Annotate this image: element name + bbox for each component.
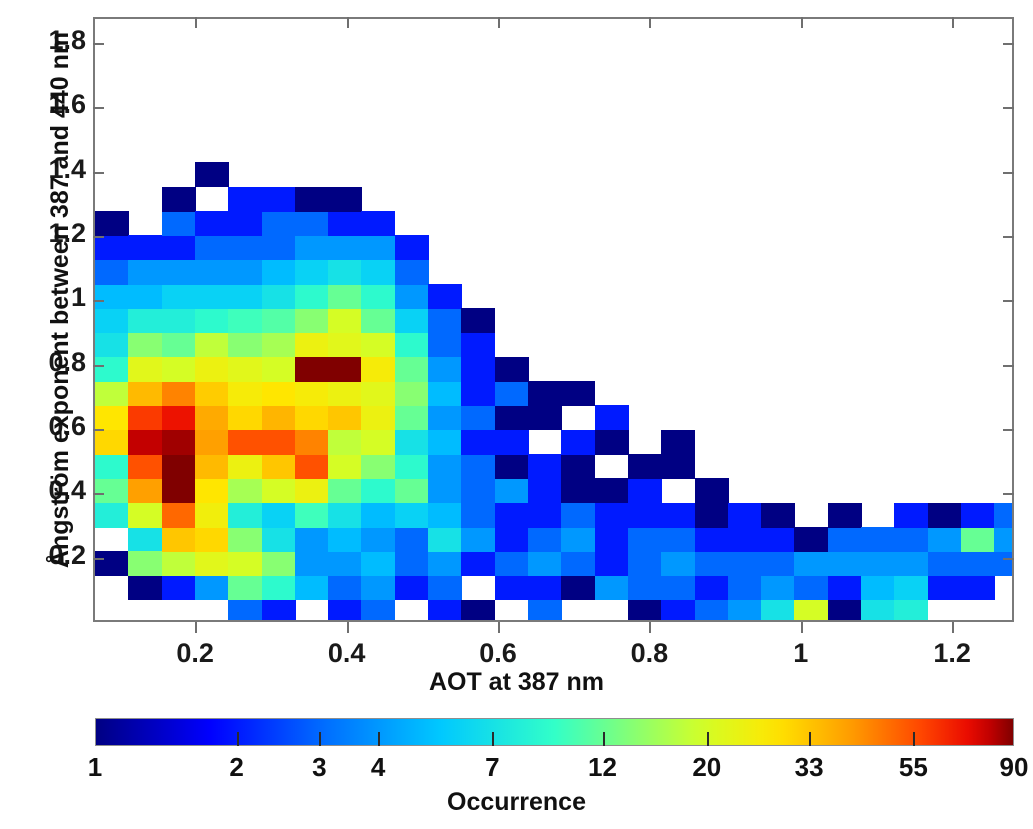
heatmap-cell	[328, 405, 362, 430]
colorbar-tick-label: 55	[868, 752, 958, 783]
heatmap-cell	[428, 357, 462, 382]
heatmap-cell	[861, 527, 895, 552]
heatmap-cell	[461, 503, 495, 528]
heatmap-cell	[228, 575, 262, 600]
heatmap-cell	[595, 430, 629, 455]
heatmap-cell	[95, 211, 129, 236]
heatmap-cell	[262, 332, 296, 357]
heatmap-cell	[228, 478, 262, 503]
colorbar-tick-label: 20	[662, 752, 752, 783]
heatmap-cell	[195, 478, 229, 503]
heatmap-cell	[262, 211, 296, 236]
heatmap-cell	[162, 503, 196, 528]
heatmap-cell	[828, 551, 862, 576]
heatmap-cell	[728, 600, 762, 622]
heatmap-cell	[495, 405, 529, 430]
heatmap-cell	[428, 308, 462, 333]
heatmap-cell	[395, 260, 429, 285]
heatmap-cell	[262, 260, 296, 285]
heatmap-cell	[495, 478, 529, 503]
y-tick-mark	[93, 43, 104, 45]
heatmap-cell	[262, 235, 296, 260]
heatmap-cell	[295, 478, 329, 503]
colorbar-tick-label: 12	[558, 752, 648, 783]
heatmap-cell	[728, 551, 762, 576]
heatmap-cell	[728, 527, 762, 552]
x-tick-label: 1.2	[902, 638, 1002, 669]
heatmap-cell	[195, 527, 229, 552]
heatmap-cell	[195, 332, 229, 357]
heatmap-cell	[761, 575, 795, 600]
heatmap-cell	[928, 503, 962, 528]
heatmap-cell	[195, 381, 229, 406]
heatmap-cell	[95, 430, 129, 455]
heatmap-cell	[328, 454, 362, 479]
heatmap-cell	[361, 308, 395, 333]
heatmap-cell	[495, 503, 529, 528]
heatmap-cell	[195, 357, 229, 382]
heatmap-cell	[295, 405, 329, 430]
x-tick-mark	[952, 17, 954, 28]
heatmap-cell	[595, 405, 629, 430]
colorbar-tick-mark	[809, 732, 811, 746]
heatmap-cell	[262, 551, 296, 576]
heatmap-cell	[661, 503, 695, 528]
heatmap-cell	[95, 284, 129, 309]
heatmap-cell	[628, 600, 662, 622]
x-tick-mark	[195, 622, 197, 633]
heatmap-cell	[528, 405, 562, 430]
heatmap-cell	[928, 575, 962, 600]
y-tick-mark	[93, 493, 104, 495]
heatmap-cell	[95, 405, 129, 430]
heatmap-cell	[262, 503, 296, 528]
heatmap-cell	[428, 430, 462, 455]
y-tick-mark	[93, 172, 104, 174]
heatmap-cell	[428, 478, 462, 503]
heatmap-cell	[262, 478, 296, 503]
y-tick-mark	[93, 429, 104, 431]
heatmap-cell	[162, 357, 196, 382]
heatmap-cell	[495, 381, 529, 406]
heatmap-cell	[395, 527, 429, 552]
heatmap-cell	[695, 478, 729, 503]
y-tick-mark	[1003, 365, 1014, 367]
heatmap-cell	[328, 260, 362, 285]
heatmap-cell	[961, 575, 995, 600]
x-tick-mark	[347, 17, 349, 28]
heatmap-cell	[695, 503, 729, 528]
heatmap-cell	[461, 332, 495, 357]
heatmap-cell	[195, 260, 229, 285]
heatmap-cell	[295, 357, 329, 382]
heatmap-cell	[561, 551, 595, 576]
heatmap-cell	[228, 405, 262, 430]
heatmap-cell	[95, 454, 129, 479]
y-tick-mark	[93, 365, 104, 367]
heatmap-cell	[195, 503, 229, 528]
heatmap-cell	[395, 381, 429, 406]
heatmap-cell	[661, 430, 695, 455]
x-tick-label: 0.6	[448, 638, 548, 669]
heatmap-cell	[295, 284, 329, 309]
heatmap-cell	[295, 211, 329, 236]
heatmap-cell	[162, 551, 196, 576]
heatmap-cell	[728, 575, 762, 600]
heatmap-cell	[328, 235, 362, 260]
heatmap-cells	[95, 19, 1012, 620]
heatmap-cell	[128, 235, 162, 260]
y-tick-mark	[1003, 300, 1014, 302]
heatmap-cell	[162, 478, 196, 503]
heatmap-cell	[661, 454, 695, 479]
x-tick-label: 0.4	[297, 638, 397, 669]
heatmap-cell	[528, 551, 562, 576]
heatmap-cell	[994, 503, 1014, 528]
figure-heatmap-aot-angstrom: 0.20.40.60.811.21.41.61.8 0.20.40.60.811…	[0, 0, 1033, 829]
heatmap-cell	[262, 575, 296, 600]
heatmap-cell	[228, 430, 262, 455]
heatmap-cell	[95, 478, 129, 503]
heatmap-cell	[128, 308, 162, 333]
heatmap-cell	[428, 527, 462, 552]
heatmap-cell	[461, 357, 495, 382]
heatmap-cell	[728, 503, 762, 528]
heatmap-cell	[794, 575, 828, 600]
heatmap-cell	[328, 308, 362, 333]
heatmap-cell	[361, 260, 395, 285]
heatmap-cell	[428, 332, 462, 357]
heatmap-cell	[95, 308, 129, 333]
heatmap-cell	[461, 600, 495, 622]
heatmap-cell	[361, 551, 395, 576]
heatmap-cell	[128, 551, 162, 576]
colorbar-tick-mark	[319, 732, 321, 746]
x-axis-title: AOT at 387 nm	[0, 668, 1033, 697]
heatmap-cell	[761, 503, 795, 528]
heatmap-cell	[661, 575, 695, 600]
heatmap-cell	[95, 381, 129, 406]
heatmap-cell	[228, 260, 262, 285]
colorbar-tick-label: 7	[447, 752, 537, 783]
heatmap-cell	[162, 211, 196, 236]
heatmap-cell	[628, 527, 662, 552]
heatmap-cell	[661, 600, 695, 622]
heatmap-cell	[528, 454, 562, 479]
heatmap-cell	[595, 478, 629, 503]
heatmap-cell	[228, 308, 262, 333]
heatmap-cell	[128, 332, 162, 357]
y-tick-mark	[1003, 558, 1014, 560]
heatmap-cell	[561, 381, 595, 406]
heatmap-cell	[228, 527, 262, 552]
heatmap-cell	[361, 575, 395, 600]
heatmap-cell	[162, 284, 196, 309]
heatmap-cell	[228, 332, 262, 357]
heatmap-cell	[395, 551, 429, 576]
colorbar-tick-mark	[492, 732, 494, 746]
heatmap-cell	[195, 575, 229, 600]
x-tick-mark	[801, 622, 803, 633]
heatmap-cell	[262, 454, 296, 479]
heatmap-cell	[295, 454, 329, 479]
heatmap-cell	[495, 551, 529, 576]
heatmap-cell	[295, 527, 329, 552]
heatmap-cell	[928, 551, 962, 576]
x-tick-mark	[649, 622, 651, 633]
heatmap-cell	[461, 527, 495, 552]
heatmap-cell	[361, 454, 395, 479]
heatmap-cell	[328, 551, 362, 576]
heatmap-cell	[361, 503, 395, 528]
heatmap-cell	[295, 308, 329, 333]
heatmap-cell	[595, 575, 629, 600]
x-tick-label: 0.8	[599, 638, 699, 669]
heatmap-cell	[228, 284, 262, 309]
heatmap-cell	[195, 454, 229, 479]
heatmap-cell	[228, 600, 262, 622]
colorbar-tick-label: 2	[192, 752, 282, 783]
heatmap-cell	[295, 187, 329, 212]
heatmap-cell	[228, 454, 262, 479]
heatmap-cell	[461, 381, 495, 406]
heatmap-cell	[262, 600, 296, 622]
colorbar-tick-mark	[603, 732, 605, 746]
heatmap-cell	[395, 575, 429, 600]
heatmap-cell	[195, 284, 229, 309]
heatmap-cell	[961, 551, 995, 576]
heatmap-cell	[328, 503, 362, 528]
colorbar-tick-label: 1	[50, 752, 140, 783]
heatmap-cell	[894, 527, 928, 552]
heatmap-cell	[528, 381, 562, 406]
heatmap-cell	[361, 430, 395, 455]
heatmap-cell	[162, 381, 196, 406]
heatmap-cell	[162, 260, 196, 285]
colorbar	[95, 718, 1014, 746]
heatmap-cell	[162, 454, 196, 479]
heatmap-cell	[195, 308, 229, 333]
colorbar-tick-label: 4	[333, 752, 423, 783]
heatmap-cell	[828, 527, 862, 552]
heatmap-cell	[295, 235, 329, 260]
y-tick-mark	[1003, 107, 1014, 109]
heatmap-cell	[328, 187, 362, 212]
heatmap-cell	[328, 600, 362, 622]
heatmap-cell	[994, 527, 1014, 552]
heatmap-cell	[395, 332, 429, 357]
heatmap-cell	[328, 284, 362, 309]
heatmap-cell	[128, 503, 162, 528]
x-tick-mark	[649, 17, 651, 28]
heatmap-cell	[928, 527, 962, 552]
heatmap-cell	[528, 478, 562, 503]
heatmap-cell	[628, 454, 662, 479]
heatmap-cell	[328, 357, 362, 382]
plot-area	[93, 17, 1014, 622]
heatmap-cell	[428, 381, 462, 406]
heatmap-cell	[228, 503, 262, 528]
heatmap-cell	[695, 527, 729, 552]
heatmap-cell	[395, 235, 429, 260]
heatmap-cell	[195, 551, 229, 576]
x-tick-mark	[347, 622, 349, 633]
heatmap-cell	[561, 575, 595, 600]
heatmap-cell	[228, 187, 262, 212]
x-tick-mark	[498, 622, 500, 633]
heatmap-cell	[561, 430, 595, 455]
heatmap-cell	[162, 235, 196, 260]
heatmap-cell	[861, 575, 895, 600]
heatmap-cell	[128, 405, 162, 430]
heatmap-cell	[128, 381, 162, 406]
heatmap-cell	[794, 551, 828, 576]
heatmap-cell	[561, 454, 595, 479]
heatmap-cell	[894, 503, 928, 528]
heatmap-cell	[195, 235, 229, 260]
heatmap-cell	[461, 308, 495, 333]
heatmap-cell	[162, 430, 196, 455]
y-tick-mark	[93, 107, 104, 109]
heatmap-cell	[561, 478, 595, 503]
heatmap-cell	[361, 211, 395, 236]
heatmap-cell	[328, 527, 362, 552]
heatmap-cell	[395, 503, 429, 528]
heatmap-cell	[328, 478, 362, 503]
heatmap-cell	[128, 478, 162, 503]
heatmap-cell	[628, 478, 662, 503]
heatmap-cell	[528, 600, 562, 622]
heatmap-cell	[395, 308, 429, 333]
heatmap-cell	[428, 600, 462, 622]
heatmap-cell	[461, 454, 495, 479]
heatmap-cell	[695, 600, 729, 622]
x-tick-mark	[801, 17, 803, 28]
heatmap-cell	[295, 332, 329, 357]
heatmap-cell	[395, 454, 429, 479]
heatmap-cell	[828, 600, 862, 622]
colorbar-tick-label: 90	[969, 752, 1033, 783]
heatmap-cell	[195, 405, 229, 430]
heatmap-cell	[262, 527, 296, 552]
heatmap-cell	[861, 600, 895, 622]
heatmap-cell	[894, 575, 928, 600]
heatmap-cell	[595, 527, 629, 552]
heatmap-cell	[861, 551, 895, 576]
heatmap-cell	[395, 430, 429, 455]
heatmap-cell	[361, 527, 395, 552]
heatmap-cell	[162, 332, 196, 357]
heatmap-cell	[961, 527, 995, 552]
heatmap-cell	[628, 551, 662, 576]
heatmap-cell	[428, 575, 462, 600]
heatmap-cell	[228, 211, 262, 236]
colorbar-tick-label: 33	[764, 752, 854, 783]
heatmap-cell	[428, 503, 462, 528]
heatmap-cell	[295, 260, 329, 285]
y-tick-mark	[1003, 172, 1014, 174]
y-tick-mark	[93, 236, 104, 238]
heatmap-cell	[395, 357, 429, 382]
heatmap-cell	[495, 357, 529, 382]
heatmap-cell	[228, 235, 262, 260]
heatmap-cell	[495, 527, 529, 552]
heatmap-cell	[162, 187, 196, 212]
heatmap-cell	[461, 430, 495, 455]
colorbar-tick-mark	[378, 732, 380, 746]
heatmap-cell	[295, 381, 329, 406]
heatmap-cell	[428, 405, 462, 430]
heatmap-cell	[95, 503, 129, 528]
heatmap-cell	[628, 503, 662, 528]
x-tick-label: 0.2	[145, 638, 245, 669]
heatmap-cell	[894, 600, 928, 622]
heatmap-cell	[162, 308, 196, 333]
y-tick-mark	[93, 300, 104, 302]
heatmap-cell	[262, 308, 296, 333]
heatmap-cell	[95, 551, 129, 576]
heatmap-cell	[361, 332, 395, 357]
heatmap-cell	[561, 527, 595, 552]
heatmap-cell	[95, 332, 129, 357]
heatmap-cell	[661, 527, 695, 552]
colorbar-gradient	[95, 718, 1014, 746]
heatmap-cell	[528, 527, 562, 552]
y-tick-mark	[1003, 236, 1014, 238]
heatmap-cell	[361, 235, 395, 260]
heatmap-cell	[495, 575, 529, 600]
heatmap-cell	[262, 357, 296, 382]
heatmap-cell	[361, 405, 395, 430]
heatmap-cell	[828, 575, 862, 600]
heatmap-cell	[295, 503, 329, 528]
heatmap-cell	[595, 503, 629, 528]
heatmap-cell	[128, 454, 162, 479]
heatmap-cell	[561, 503, 595, 528]
heatmap-cell	[95, 235, 129, 260]
heatmap-cell	[295, 575, 329, 600]
x-tick-mark	[195, 17, 197, 28]
colorbar-tick-mark	[237, 732, 239, 746]
heatmap-cell	[794, 600, 828, 622]
x-tick-mark	[952, 622, 954, 633]
heatmap-cell	[361, 284, 395, 309]
heatmap-cell	[162, 405, 196, 430]
heatmap-cell	[528, 503, 562, 528]
heatmap-cell	[95, 260, 129, 285]
heatmap-cell	[128, 527, 162, 552]
heatmap-cell	[428, 284, 462, 309]
heatmap-cell	[961, 503, 995, 528]
heatmap-cell	[195, 430, 229, 455]
heatmap-cell	[228, 551, 262, 576]
x-tick-mark	[498, 17, 500, 28]
heatmap-cell	[328, 430, 362, 455]
heatmap-cell	[761, 600, 795, 622]
heatmap-cell	[128, 575, 162, 600]
heatmap-cell	[828, 503, 862, 528]
heatmap-cell	[761, 551, 795, 576]
y-tick-mark	[93, 558, 104, 560]
heatmap-cell	[495, 430, 529, 455]
heatmap-cell	[162, 575, 196, 600]
heatmap-cell	[428, 551, 462, 576]
heatmap-cell	[894, 551, 928, 576]
heatmap-cell	[328, 575, 362, 600]
heatmap-cell	[228, 381, 262, 406]
heatmap-cell	[428, 454, 462, 479]
heatmap-cell	[994, 551, 1014, 576]
